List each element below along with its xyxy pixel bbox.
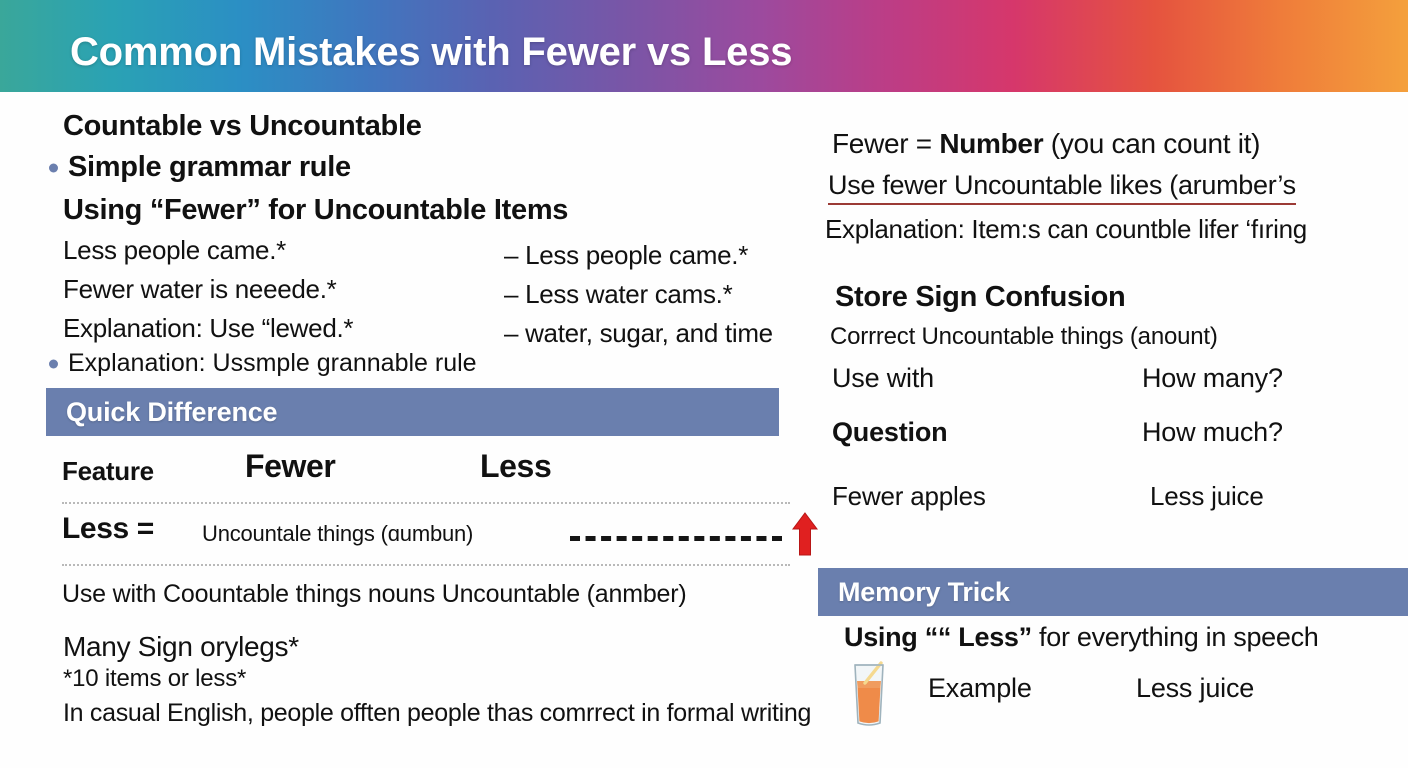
examples-column-right: – Less people came.* – Less water cams.*… xyxy=(504,236,834,353)
pair-value-how-many: How many? xyxy=(1142,363,1283,394)
section-header-memory-trick: Memory Trick xyxy=(818,568,1408,616)
casual-english-note: In casual English, people offten people … xyxy=(63,697,823,729)
table-row: Less = Uncountale things (ɑumbun) xyxy=(62,504,806,564)
table-column-header-less: Less xyxy=(480,448,551,485)
fewer-equals-bold: Number xyxy=(939,128,1043,159)
section-header-memory-trick-label: Memory Trick xyxy=(838,577,1010,608)
table-column-header-fewer: Fewer xyxy=(245,448,336,485)
example-line: Fewer water is neeede.* xyxy=(63,270,503,309)
bullet-explanation-label: Explanation: Ussmple grannable rule xyxy=(68,349,477,377)
dashed-line-decoration xyxy=(570,536,782,541)
example-line: Less people came.* xyxy=(63,231,503,270)
examples-column-left: Less people came.* Fewer water is neeede… xyxy=(63,231,503,348)
pair-row-use-with: Use with How many? xyxy=(832,363,1408,417)
comparison-table-header: Feature Fewer Less xyxy=(62,448,806,502)
heading-countable-vs-uncountable: Countable vs Uncountable xyxy=(63,110,806,143)
bullet-simple-grammar-rule: Simple grammar rule xyxy=(46,151,806,184)
memory-trick-body: Using ““ Less” for everything in speech … xyxy=(818,622,1408,731)
example-row-apples-juice: Fewer apples Less juice xyxy=(832,481,1408,531)
table-column-header-feature: Feature xyxy=(62,456,154,487)
example-value: Less juice xyxy=(1136,673,1254,704)
left-column: Countable vs Uncountable Simple grammar … xyxy=(46,100,806,729)
pair-key-use-with: Use with xyxy=(832,363,934,394)
section-header-quick-difference-label: Quick Difference xyxy=(66,397,277,428)
heading-using-fewer: Using “Fewer” for Uncountable Items xyxy=(63,194,806,227)
page-title: Common Mistakes with Fewer vs Less xyxy=(70,30,792,75)
pair-value-how-much: How much? xyxy=(1142,417,1283,448)
correct-uncountable-line: Corrrect Uncountable things (anount) xyxy=(830,323,1408,351)
ten-items-line: *10 items or less* xyxy=(63,665,806,693)
bullet-simple-grammar-rule-label: Simple grammar rule xyxy=(68,151,351,183)
section-header-quick-difference: Quick Difference xyxy=(46,388,779,436)
explanation-items-line: Explanation: Item:s can countble lifer ‘… xyxy=(825,214,1408,245)
table-cell-description: Uncountale things (ɑumbun) xyxy=(202,521,473,547)
heading-store-sign-confusion: Store Sign Confusion xyxy=(835,281,1408,314)
fewer-equals-suffix: (you can count it) xyxy=(1043,128,1260,159)
many-sign-line: Many Sign orylegs* xyxy=(63,631,806,663)
slide-canvas: Common Mistakes with Fewer vs Less Count… xyxy=(0,0,1408,768)
example-line: – Less people came.* xyxy=(504,236,834,275)
table-divider-bottom xyxy=(62,564,790,566)
arrow-up-icon xyxy=(792,512,818,556)
memory-trick-line: Using ““ Less” for everything in speech xyxy=(844,622,1408,653)
memory-trick-line-bold: Using ““ Less” xyxy=(844,622,1032,652)
example-line: Explanation: Use “lewed.* xyxy=(63,309,503,348)
example-less-juice: Less juice xyxy=(1150,481,1264,512)
example-label: Example xyxy=(928,673,1032,704)
bullet-explanation: Explanation: Ussmple grannable rule xyxy=(46,349,806,378)
example-line: – Less water cams.* xyxy=(504,275,834,314)
juice-glass-icon xyxy=(848,661,890,727)
pair-key-question: Question xyxy=(832,417,947,448)
pair-row-question: Question How much? xyxy=(832,417,1408,471)
memory-trick-line-rest: for everything in speech xyxy=(1032,622,1319,652)
example-line: – water, sugar, and time xyxy=(504,314,834,353)
table-row-use-with: Use with Coountable things nouns Uncount… xyxy=(62,580,806,609)
memory-trick-example-row: Example Less juice xyxy=(818,659,1408,731)
fewer-equals-prefix: Fewer = xyxy=(832,128,939,159)
table-cell-less-label: Less = xyxy=(62,512,154,546)
use-fewer-underlined-line: Use fewer Uncountable likes (arumber’s xyxy=(828,170,1296,205)
example-fewer-apples: Fewer apples xyxy=(832,481,986,512)
examples-block: Less people came.* Fewer water is neeede… xyxy=(46,231,806,349)
right-column: Fewer = Number (you can count it) Use fe… xyxy=(818,128,1408,531)
fewer-equals-number-line: Fewer = Number (you can count it) xyxy=(832,128,1408,160)
